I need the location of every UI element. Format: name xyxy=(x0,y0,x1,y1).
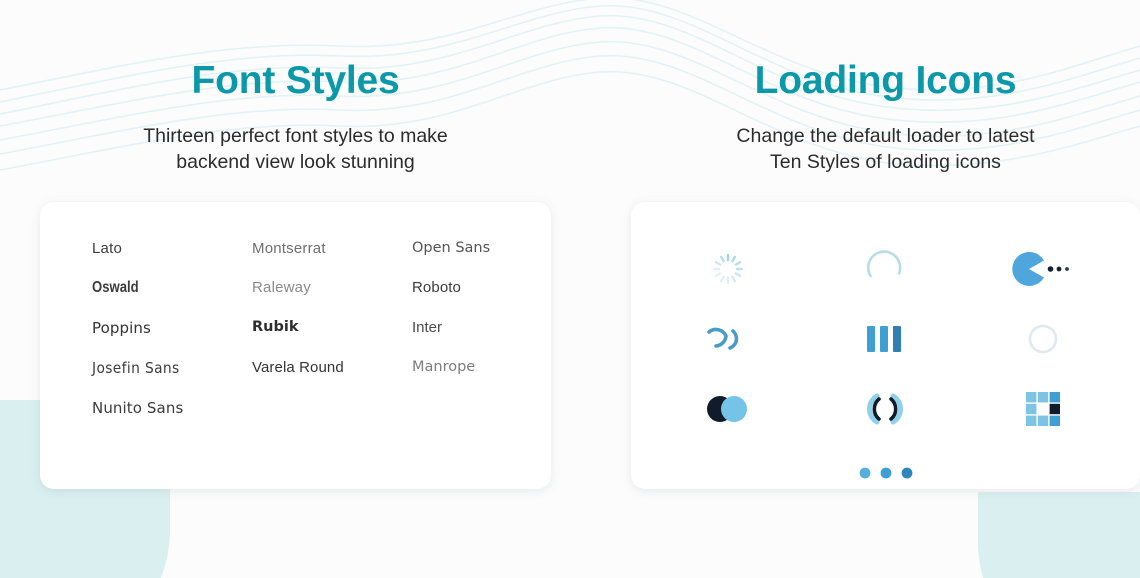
two-circles-icon xyxy=(704,394,752,424)
font-item-manrope[interactable]: Manrope xyxy=(412,359,511,377)
double-crescent-icon xyxy=(705,322,751,356)
facing-brackets-icon xyxy=(865,392,905,426)
page-title-loaders: Loading Icons xyxy=(631,60,1140,103)
loader-cell-1[interactable] xyxy=(693,234,763,304)
page-title-fonts: Font Styles xyxy=(40,60,551,103)
loader-cell-9[interactable] xyxy=(1008,374,1078,444)
font-item-montserrat[interactable]: Montserrat xyxy=(252,240,412,257)
loader-cell-7[interactable] xyxy=(693,374,763,444)
subtitle-fonts-line1: Thirteen perfect font styles to make xyxy=(40,123,551,149)
font-item-lato[interactable]: Lato xyxy=(92,240,252,257)
grid-squares-icon xyxy=(1026,392,1060,426)
loader-cell-4[interactable] xyxy=(693,304,763,374)
font-item-varela-round[interactable]: Varela Round xyxy=(252,359,412,377)
font-item-raleway[interactable]: Raleway xyxy=(252,279,412,297)
subtitle-loaders-line1: Change the default loader to latest xyxy=(631,123,1140,149)
three-dots-icon xyxy=(858,465,914,481)
loader-cell-6[interactable] xyxy=(1008,304,1078,374)
loading-icons-card xyxy=(631,202,1140,489)
loader-cell-2[interactable] xyxy=(850,234,920,304)
subtitle-fonts-line2: backend view look stunning xyxy=(40,149,551,175)
pacman-dots-icon xyxy=(1012,252,1074,286)
three-bars-icon xyxy=(865,324,905,354)
arc-ring-icon xyxy=(865,249,905,289)
spinner-ticks-icon xyxy=(711,252,745,286)
font-list-grid: Lato Montserrat Open Sans Oswald Raleway… xyxy=(92,240,511,417)
font-grid-spacer-a xyxy=(252,399,412,417)
loader-cell-3[interactable] xyxy=(1008,234,1078,304)
loader-cell-10[interactable] xyxy=(631,444,1140,502)
subtitle-loaders-line2: Ten Styles of loading icons xyxy=(631,149,1140,175)
font-styles-section: Font Styles Thirteen perfect font styles… xyxy=(0,0,591,578)
font-item-open-sans[interactable]: Open Sans xyxy=(412,240,511,257)
loading-icons-section: Loading Icons Change the default loader … xyxy=(591,0,1140,578)
font-item-poppins[interactable]: Poppins xyxy=(92,319,252,337)
font-item-rubik[interactable]: Rubik xyxy=(252,319,412,337)
loader-cell-8[interactable] xyxy=(850,374,920,444)
font-styles-card: Lato Montserrat Open Sans Oswald Raleway… xyxy=(40,202,551,489)
font-grid-spacer-b xyxy=(412,399,511,417)
font-item-josefin-sans[interactable]: Josefin Sans xyxy=(92,359,239,377)
font-item-inter[interactable]: Inter xyxy=(412,319,511,337)
subtitle-loaders: Change the default loader to latest Ten … xyxy=(631,123,1140,176)
loader-cell-5[interactable] xyxy=(850,304,920,374)
font-item-oswald[interactable]: Oswald xyxy=(92,279,223,297)
font-item-nunito-sans[interactable]: Nunito Sans xyxy=(92,399,252,417)
loader-grid xyxy=(631,224,1140,444)
circle-outline-icon xyxy=(1027,323,1059,355)
font-item-roboto[interactable]: Roboto xyxy=(412,279,511,297)
subtitle-fonts: Thirteen perfect font styles to make bac… xyxy=(40,123,551,176)
